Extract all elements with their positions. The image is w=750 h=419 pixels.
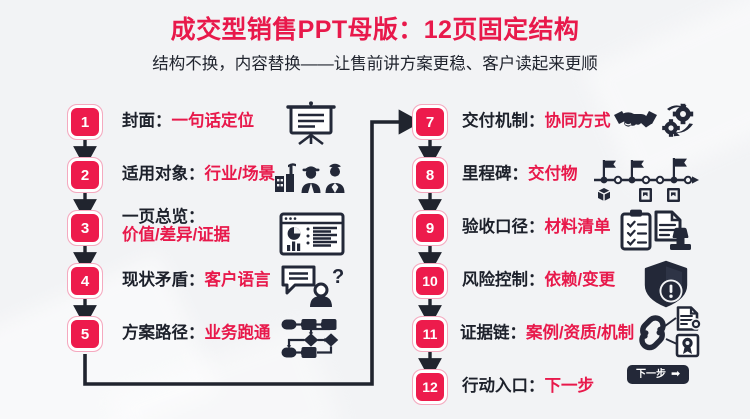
step-badge-11[interactable]: 11 — [413, 317, 447, 351]
step-row-1: 封面：一句话定位 — [122, 112, 254, 132]
industry-people-icon — [273, 162, 351, 194]
step-label-10: 风险控制： — [462, 271, 545, 289]
speech-question-icon: ? — [280, 264, 344, 308]
step-value-10: 依赖/变更 — [545, 271, 616, 289]
step-row-3: 一页总览： 价值/差异/证据 — [122, 208, 230, 245]
arrow-right-icon: ➡ — [671, 369, 680, 380]
step-label-11: 证据链： — [460, 324, 526, 342]
checklist-stamp-icon — [620, 208, 692, 252]
step-badge-7[interactable]: 7 — [413, 105, 447, 139]
step-value-1: 一句话定位 — [172, 112, 255, 130]
step-row-9: 验收口径：材料清单 — [462, 218, 611, 238]
dashboard-window-icon — [279, 212, 345, 256]
step-label-12: 行动入口： — [462, 377, 545, 395]
step-value-3: 价值/差异/证据 — [122, 226, 230, 244]
step-value-11: 案例/资质/机制 — [526, 324, 634, 342]
step-label-3: 一页总览： — [122, 208, 230, 226]
step-row-10: 风险控制：依赖/变更 — [462, 271, 615, 291]
infographic-canvas: 成交型销售PPT母版：12页固定结构 结构不换，内容替换——让售前讲方案更稳、客… — [0, 0, 750, 419]
svg-text:?: ? — [332, 266, 344, 288]
chain-certificate-icon — [636, 306, 712, 358]
step-badge-9[interactable]: 9 — [413, 211, 447, 245]
step-badge-1[interactable]: 1 — [68, 105, 102, 139]
step-label-9: 验收口径： — [462, 218, 545, 236]
step-value-2: 行业/场景 — [205, 165, 276, 183]
step-badge-2[interactable]: 2 — [68, 158, 102, 192]
step-badge-4[interactable]: 4 — [68, 264, 102, 298]
next-step-button-icon[interactable]: 下一步 ➡ — [627, 365, 689, 384]
step-row-8: 里程碑：交付物 — [462, 165, 578, 185]
step-row-4: 现状矛盾：客户语言 — [122, 271, 271, 291]
step-badge-3[interactable]: 3 — [68, 211, 102, 245]
step-row-11: 证据链：案例/资质/机制 — [460, 324, 634, 344]
step-badge-10[interactable]: 10 — [413, 264, 447, 298]
handshake-gears-icon — [613, 104, 699, 142]
flowchart-icon — [281, 318, 345, 360]
step-label-8: 里程碑： — [462, 165, 528, 183]
step-badge-8[interactable]: 8 — [413, 158, 447, 192]
step-badge-12[interactable]: 12 — [413, 370, 447, 404]
step-value-4: 客户语言 — [205, 271, 271, 289]
step-label-1: 封面： — [122, 112, 172, 130]
step-value-9: 材料清单 — [545, 218, 611, 236]
presentation-board-icon — [285, 100, 337, 146]
step-value-12: 下一步 — [545, 377, 595, 395]
next-step-button-label: 下一步 — [636, 370, 666, 380]
step-label-5: 方案路径： — [122, 324, 205, 342]
step-value-5: 业务跑通 — [205, 324, 271, 342]
step-value-7: 协同方式 — [545, 112, 611, 130]
step-row-2: 适用对象：行业/场景 — [122, 165, 275, 185]
shield-warning-icon — [643, 260, 691, 308]
step-value-8: 交付物 — [528, 165, 578, 183]
step-row-5: 方案路径：业务跑通 — [122, 324, 271, 344]
milestone-timeline-icon — [593, 155, 701, 203]
step-label-2: 适用对象： — [122, 165, 205, 183]
step-row-7: 交付机制：协同方式 — [462, 112, 611, 132]
step-label-7: 交付机制： — [462, 112, 545, 130]
step-badge-5[interactable]: 5 — [68, 317, 102, 351]
step-label-4: 现状矛盾： — [122, 271, 205, 289]
step-row-12: 行动入口：下一步 — [462, 377, 594, 397]
